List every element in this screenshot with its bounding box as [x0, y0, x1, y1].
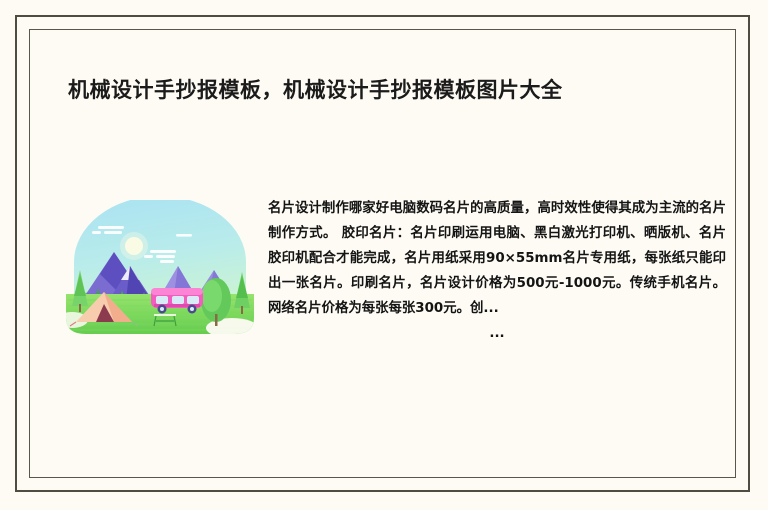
camping-scene-illustration: [56, 200, 264, 340]
article-continuation: ...: [268, 321, 726, 346]
page-root: 机械设计手抄报模板，机械设计手抄报模板图片大全: [0, 0, 768, 510]
article-body-text: 名片设计制作哪家好电脑数码名片的高质量，高时效性使得其成为主流的名片制作方式。 …: [268, 196, 726, 321]
article-content: 名片设计制作哪家好电脑数码名片的高质量，高时效性使得其成为主流的名片制作方式。 …: [56, 196, 726, 411]
article-body: 名片设计制作哪家好电脑数码名片的高质量，高时效性使得其成为主流的名片制作方式。 …: [268, 196, 726, 359]
page-title: 机械设计手抄报模板，机械设计手抄报模板图片大全: [68, 76, 708, 105]
